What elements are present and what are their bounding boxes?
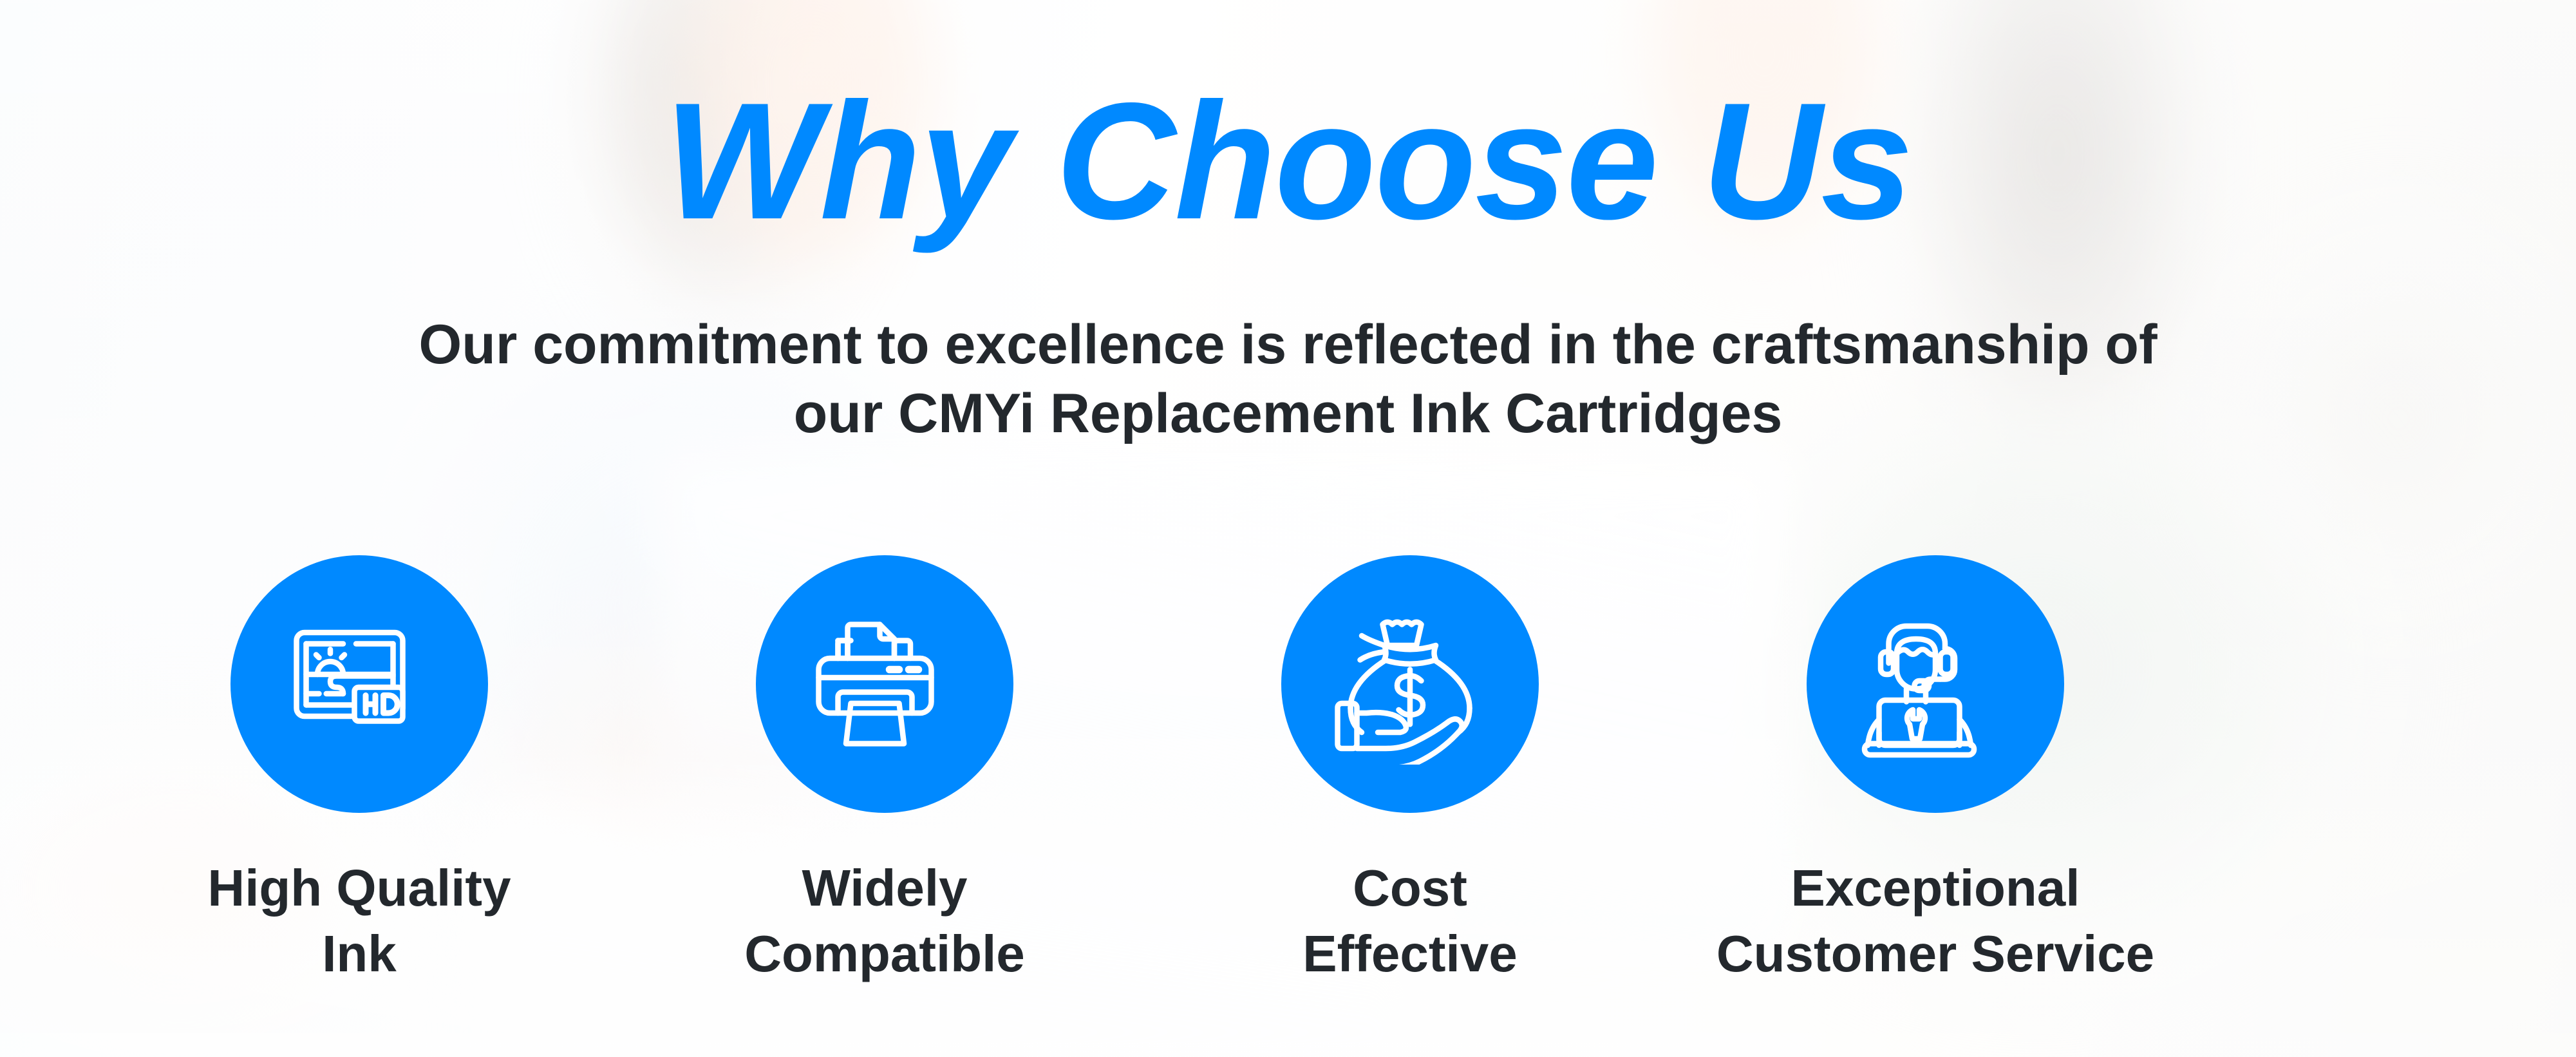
feature-icon-badge-3	[1281, 555, 1539, 813]
hand-holding-money-bag-icon	[1330, 604, 1490, 765]
page-subtitle: Our commitment to excellence is reflecte…	[0, 310, 2576, 448]
subtitle-line-1: Our commitment to excellence is reflecte…	[0, 310, 2576, 379]
feature-list: High Quality Ink	[97, 555, 2479, 986]
feature-label-3: Cost Effective	[1302, 855, 1517, 986]
hd-photo-frame-icon	[279, 604, 440, 765]
why-choose-us-banner: Why Choose Us Our commitment to excellen…	[0, 0, 2576, 1057]
feature-label-2: Widely Compatible	[744, 855, 1025, 986]
support-agent-headset-laptop-icon	[1855, 604, 2016, 765]
feature-icon-badge-4	[1807, 555, 2064, 813]
feature-icon-badge-1	[230, 555, 488, 813]
feature-item-widely-compatible: Widely Compatible	[622, 555, 1147, 986]
subtitle-line-2: our CMYi Replacement Ink Cartridges	[0, 379, 2576, 448]
feature-item-high-quality-ink: High Quality Ink	[97, 555, 622, 986]
feature-item-cost-effective: Cost Effective	[1147, 555, 1673, 986]
feature-label-1: High Quality Ink	[207, 855, 511, 986]
page-title: Why Choose Us	[0, 76, 2576, 245]
feature-label-4: Exceptional Customer Service	[1716, 855, 2154, 986]
printer-icon	[804, 604, 965, 765]
feature-icon-badge-2	[756, 555, 1013, 813]
feature-item-exceptional-customer-service: Exceptional Customer Service	[1673, 555, 2198, 986]
